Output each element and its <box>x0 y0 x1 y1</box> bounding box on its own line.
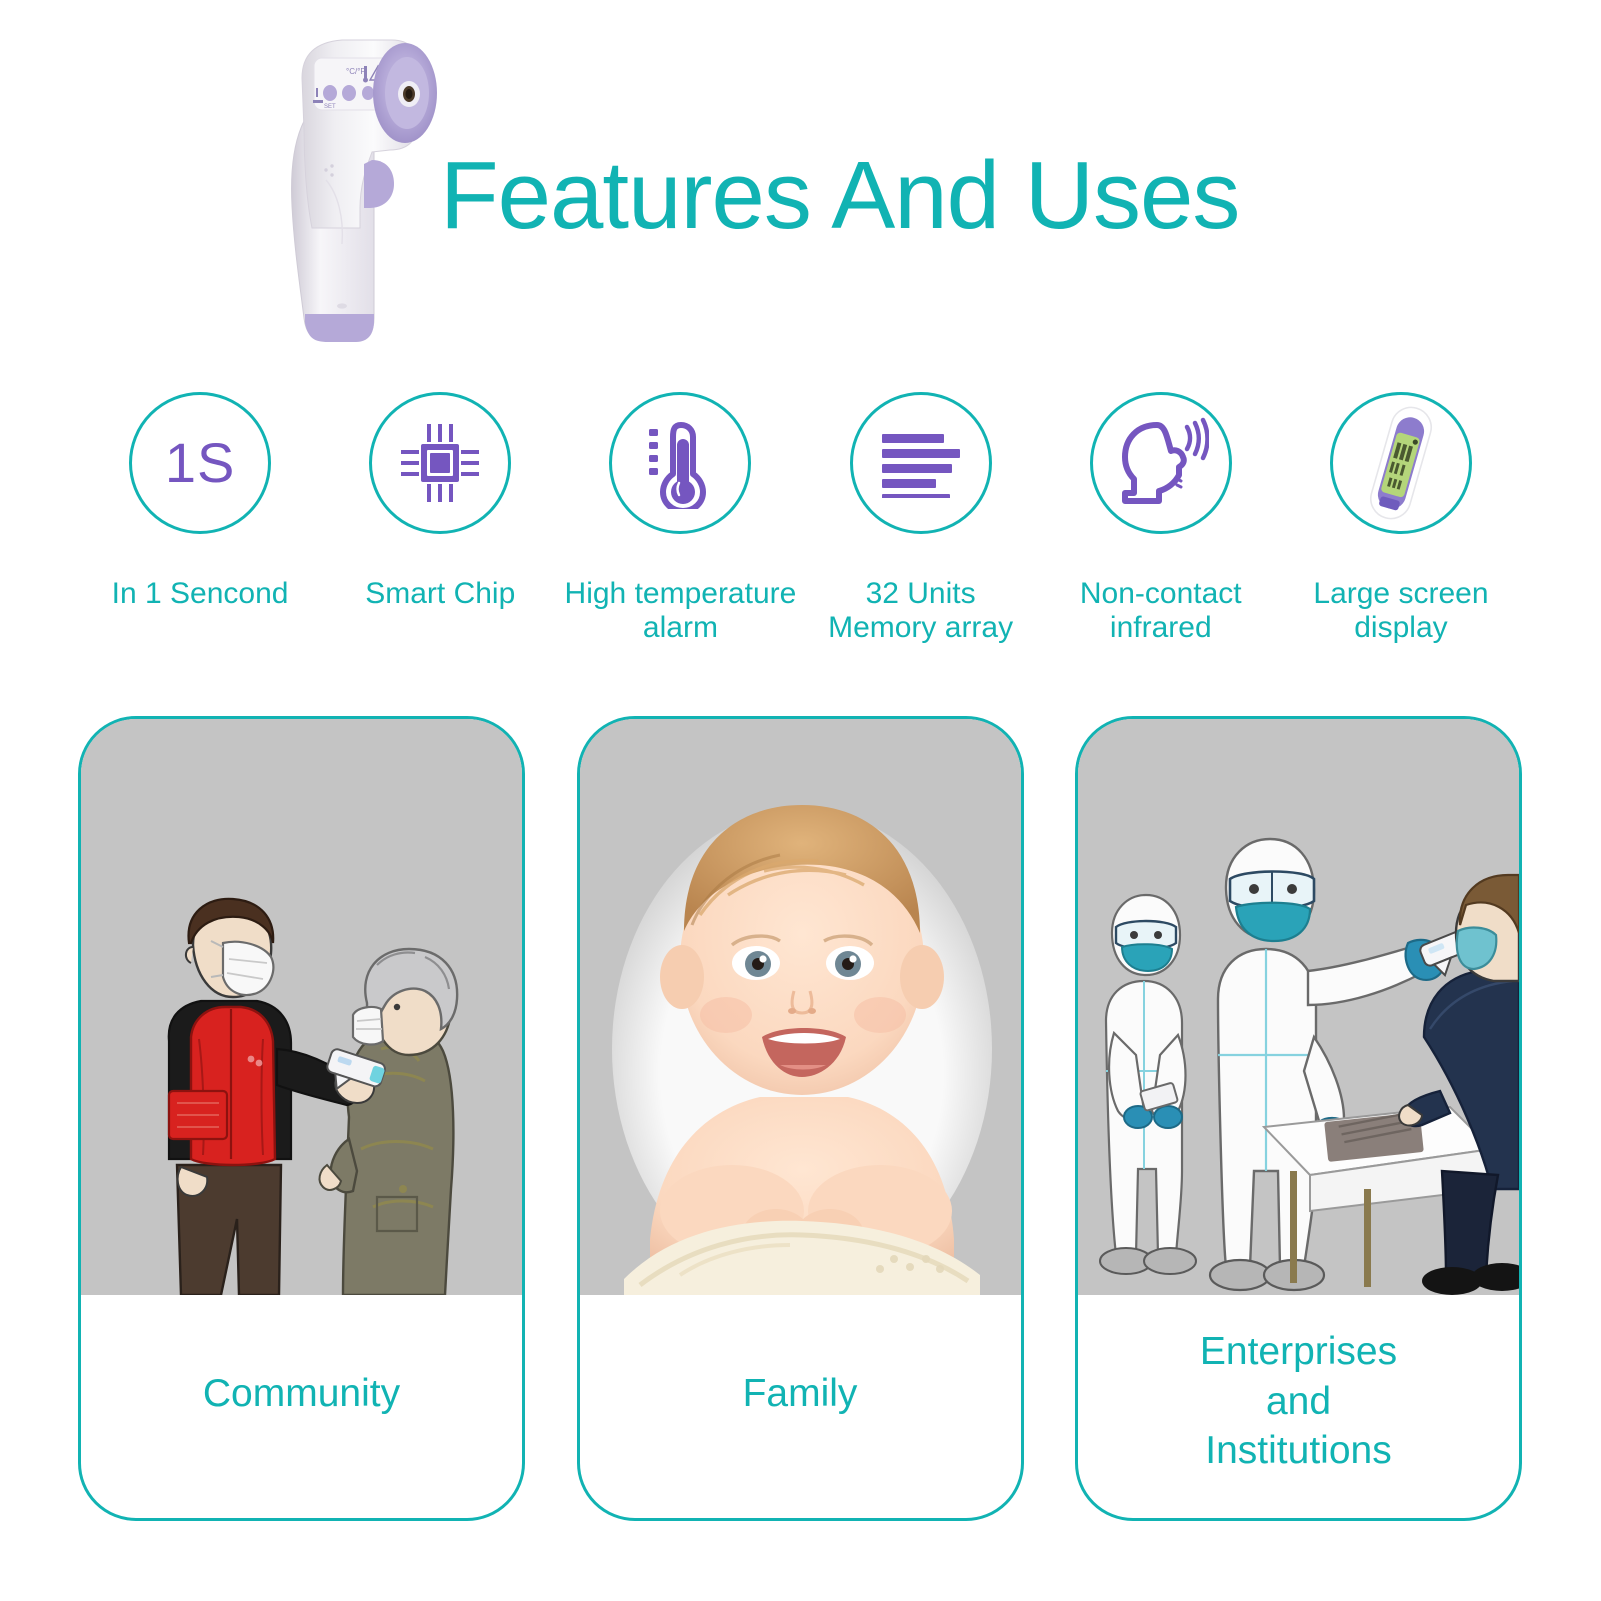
enterprise-screening-illustration <box>1078 719 1519 1295</box>
feature-label-smart-chip: Smart Chip <box>365 577 515 611</box>
memory-lines-icon <box>876 428 966 498</box>
product-thermometer-image: °C/°F SET <box>268 18 468 348</box>
lcd-screen-thermometer-icon <box>1351 404 1451 522</box>
head-infrared-waves-icon-wrap <box>1090 392 1232 534</box>
smart-chip-icon <box>397 420 483 506</box>
thermometer-icon-wrap <box>609 392 751 534</box>
feature-item-smart-chip: Smart Chip <box>320 392 560 611</box>
card-caption-family: Family <box>580 1295 1021 1518</box>
one-second-badge-icon: 1S <box>129 392 271 534</box>
community-temperature-check-illustration <box>81 719 522 1295</box>
smart-chip-icon-wrap <box>369 392 511 534</box>
page-title: Features And Uses <box>440 148 1239 244</box>
feature-item-large-screen-display: Large screen display <box>1281 392 1521 644</box>
feature-label-large-screen-display: Large screen display <box>1313 577 1488 644</box>
feature-item-non-contact-infrared: Non-contact infrared <box>1041 392 1281 644</box>
feature-label-high-temperature-alarm: High temperature alarm <box>565 577 797 644</box>
card-caption-enterprises: Enterprises and Institutions <box>1078 1295 1519 1518</box>
use-case-card-enterprises[interactable]: Enterprises and Institutions <box>1075 716 1522 1521</box>
use-case-card-family[interactable]: Family <box>577 716 1024 1521</box>
thermometer-icon <box>637 417 723 509</box>
feature-item-memory-array: 32 Units Memory array <box>801 392 1041 644</box>
use-cases-row: Community <box>78 716 1522 1521</box>
lcd-screen-thermometer-icon-wrap <box>1330 392 1472 534</box>
smiling-baby-photo <box>580 719 1021 1295</box>
head-infrared-waves-icon <box>1113 417 1209 509</box>
memory-lines-icon-wrap <box>850 392 992 534</box>
svg-text:°C/°F: °C/°F <box>346 67 365 76</box>
features-row: 1S In 1 Sencond <box>80 392 1521 662</box>
feature-item-in-1-second: 1S In 1 Sencond <box>80 392 320 611</box>
card-caption-community: Community <box>81 1295 522 1518</box>
feature-label-in-1-second: In 1 Sencond <box>112 577 289 611</box>
feature-item-high-temperature-alarm: High temperature alarm <box>560 392 800 644</box>
use-case-card-community[interactable]: Community <box>78 716 525 1521</box>
svg-text:SET: SET <box>324 104 336 110</box>
feature-label-memory-array: 32 Units Memory array <box>828 577 1013 644</box>
feature-label-non-contact-infrared: Non-contact infrared <box>1080 577 1242 644</box>
one-second-text: 1S <box>165 435 236 491</box>
